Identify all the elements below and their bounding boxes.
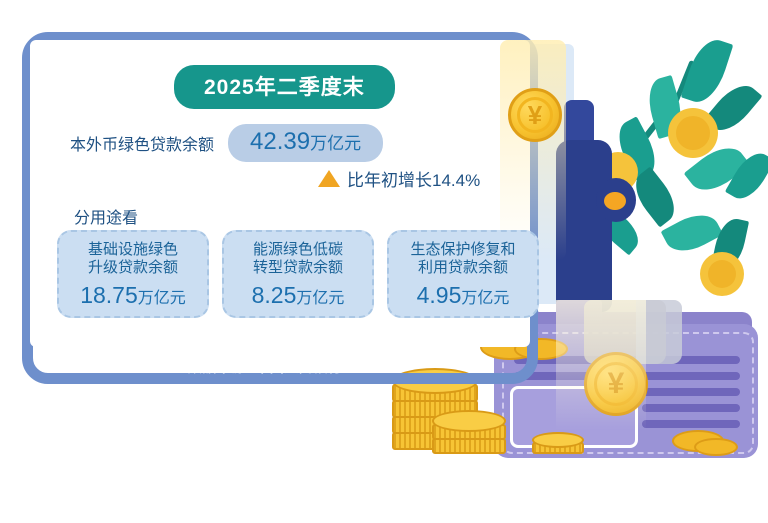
branch-stem <box>581 120 660 218</box>
card-unit: 万亿元 <box>138 290 186 307</box>
infographic-page: { "header": { "title_badge": "2025年二季度末"… <box>0 0 768 523</box>
wallet-line <box>642 420 740 428</box>
coin-stack-icon <box>392 384 478 402</box>
leaf-icon <box>627 166 684 227</box>
berry-icon <box>708 260 736 288</box>
headline-label: 本外币绿色贷款余额 <box>70 131 214 155</box>
card-value-row: 8.25万亿元 <box>232 282 364 309</box>
coin-stack-icon <box>392 432 478 450</box>
card-value: 4.95 <box>417 282 462 308</box>
leaf-icon <box>711 216 749 273</box>
section-label: 分用途看 <box>74 204 138 228</box>
leaf-icon <box>643 75 688 139</box>
headline-value-pill: 42.39万亿元 <box>228 124 383 162</box>
berry-icon <box>598 152 638 192</box>
glow-highlight-2 <box>556 300 646 430</box>
leaf-icon <box>704 77 763 139</box>
card-unit: 万亿元 <box>296 290 344 307</box>
leaf-icon <box>684 138 751 201</box>
growth-row: 比年初增长14.4% <box>318 166 480 191</box>
source-attribution: 数据来源: 中国人民银行 <box>22 357 508 377</box>
breakdown-card-1: 基础设施绿色 升级贷款余额 18.75万亿元 <box>57 230 209 318</box>
coin-stack-icon <box>392 416 478 434</box>
leaf-icon <box>610 116 664 181</box>
leaf-icon <box>592 205 645 256</box>
berry-icon <box>700 252 744 296</box>
leaf-icon <box>681 34 734 107</box>
berry-icon <box>668 108 718 158</box>
card-name: 能源绿色低碳 转型贷款余额 <box>232 241 364 276</box>
card-name: 基础设施绿色 升级贷款余额 <box>67 241 199 276</box>
up-triangle-icon <box>318 170 340 187</box>
berry-icon <box>676 116 710 150</box>
coin-disc <box>672 430 724 452</box>
coin-disc <box>694 438 738 456</box>
card-unit: 万亿元 <box>461 290 509 307</box>
leaf-icon <box>661 206 724 260</box>
branch-stem-2 <box>660 60 695 136</box>
breakdown-card-2: 能源绿色低碳 转型贷款余额 8.25万亿元 <box>222 230 374 318</box>
device-neck <box>564 100 594 160</box>
card-value: 18.75 <box>80 282 138 308</box>
headline-row: 本外币绿色贷款余额 42.39万亿元 <box>70 124 383 162</box>
headline-value: 42.39 <box>250 128 310 155</box>
coin-stack-top <box>432 410 506 432</box>
card-value-row: 18.75万亿元 <box>67 282 199 309</box>
wallet-line <box>642 404 740 412</box>
growth-text: 比年初增长14.4% <box>347 166 480 191</box>
coin-stack-icon <box>432 438 506 454</box>
breakdown-cards: 基础设施绿色 升级贷款余额 18.75万亿元 能源绿色低碳 转型贷款余额 8.2… <box>57 230 539 318</box>
info-card-content: 2025年二季度末 本外币绿色贷款余额 42.39万亿元 比年初增长14.4% … <box>22 32 538 384</box>
coin-stack-icon <box>432 424 506 440</box>
title-badge: 2025年二季度末 <box>174 65 395 109</box>
card-value: 8.25 <box>252 282 297 308</box>
piggy-bank-snout <box>596 178 636 222</box>
coin-stack-icon <box>392 400 478 418</box>
wallet-line <box>642 388 740 396</box>
headline-unit: 万亿元 <box>310 134 361 153</box>
coin-stack-top <box>532 432 584 448</box>
coin-stack-icon <box>532 442 584 454</box>
breakdown-card-3: 生态保护修复和 利用贷款余额 4.95万亿元 <box>387 230 539 318</box>
card-name: 生态保护修复和 利用贷款余额 <box>397 241 529 276</box>
device-knob <box>604 192 626 210</box>
card-value-row: 4.95万亿元 <box>397 282 529 309</box>
leaf-icon <box>725 146 768 205</box>
